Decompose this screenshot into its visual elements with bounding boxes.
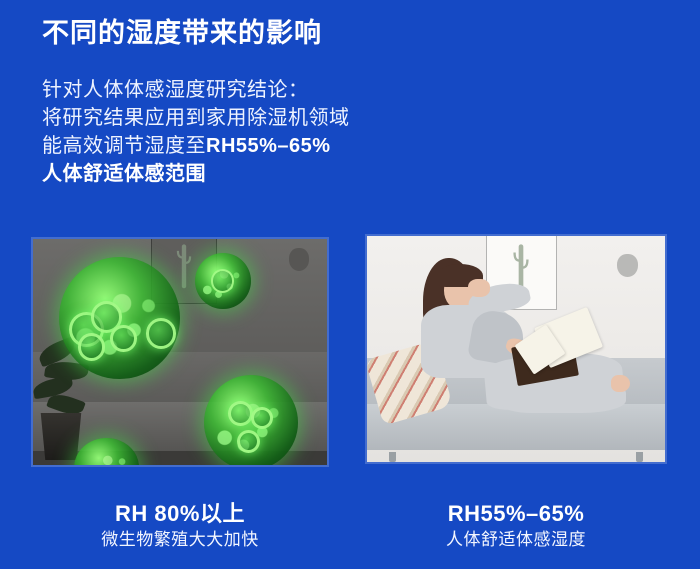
woman-reading [397,254,635,448]
cactus-icon [173,239,195,293]
body-copy-line-4: 人体舒适体感范围 [42,160,350,188]
bacteria-cell [146,318,176,348]
wall-lamp-icon [289,248,310,271]
sofa-leg [389,452,396,462]
bacteria-cell [237,430,260,453]
hand-at-forehead [468,279,489,296]
body-copy-line-1: 针对人体体感湿度研究结论： [42,76,350,104]
body-copy-line-2: 将研究结果应用到家用除湿机领域 [42,104,350,132]
sofa-leg [636,452,643,462]
caption-comfort-humidity: RH55%–65% 人体舒适体感湿度 [367,500,665,553]
bacteria-cell [78,333,106,361]
foot [611,375,630,392]
humidity-range-highlight: RH55%–65% [206,135,331,157]
page-title: 不同的湿度带来的影响 [42,18,322,49]
bacteria-cluster-small [195,253,251,310]
caption-sub: 微生物繁殖大大加快 [33,527,327,553]
humidity-comparison-poster: 不同的湿度带来的影响 针对人体体感湿度研究结论： 将研究结果应用到家用除湿机领域… [0,0,700,569]
body-copy-line-3-prefix: 能高效调节湿度至 [42,135,206,157]
bacteria-cell [251,407,273,429]
photo-comfort-humidity [367,236,665,462]
bacteria-cell [211,269,234,292]
caption-sub: 人体舒适体感湿度 [367,527,665,553]
caption-high-humidity: RH 80%以上 微生物繁殖大大加快 [33,500,327,553]
photo-high-humidity [33,239,327,465]
bacteria-cell [228,401,253,426]
caption-main: RH 80%以上 [33,500,327,527]
caption-main: RH55%–65% [367,500,665,527]
body-copy-block: 针对人体体感湿度研究结论： 将研究结果应用到家用除湿机领域 能高效调节湿度至RH… [42,76,350,188]
bacteria-cell [110,325,136,352]
bacteria-cluster-large [59,257,180,379]
body-copy-line-3: 能高效调节湿度至RH55%–65% [42,132,350,160]
bacteria-cluster-medium [204,375,298,465]
